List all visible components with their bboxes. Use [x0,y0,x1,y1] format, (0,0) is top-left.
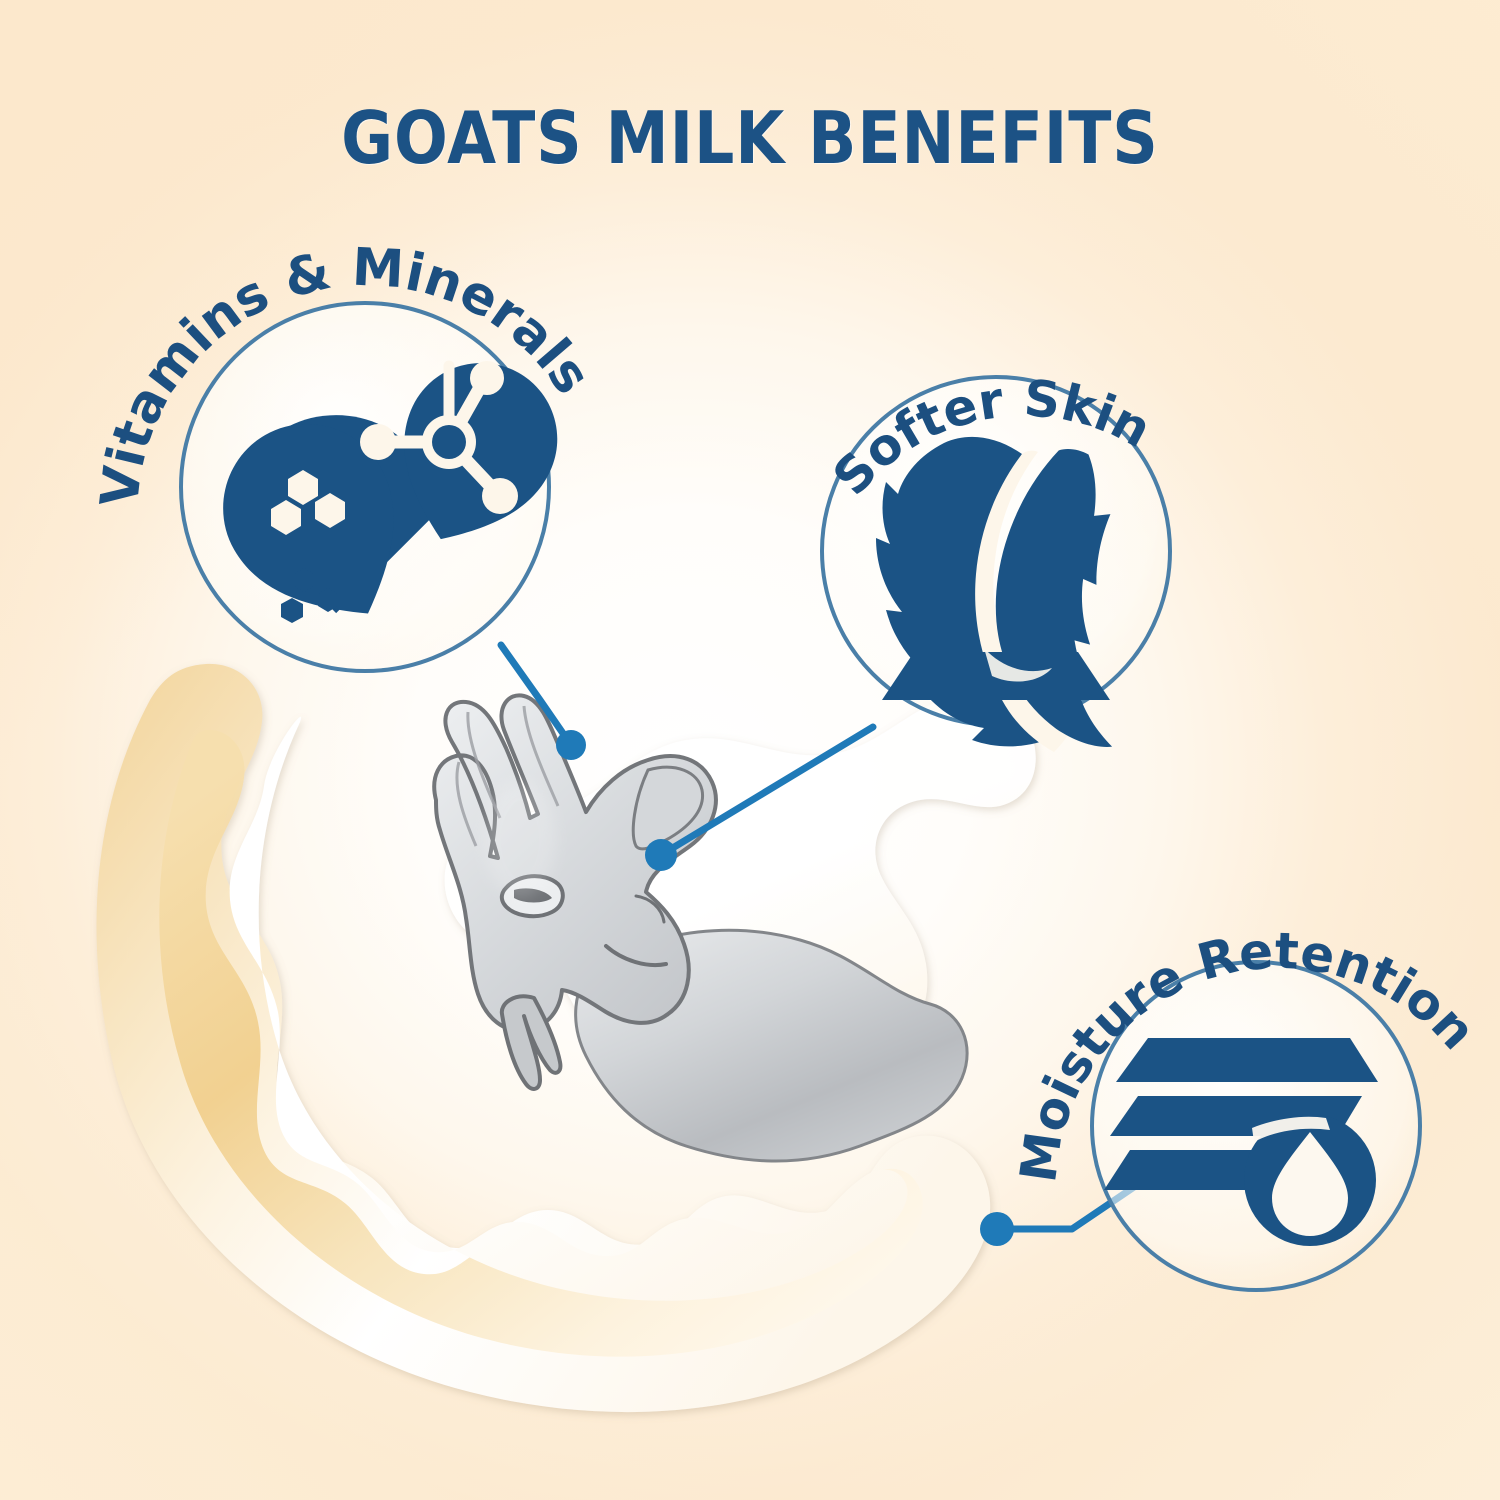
connector-dot-moisture [980,1212,1014,1246]
connector-dot-vitamins [556,730,586,760]
page-title: GOATS MILK BENEFITS [90,96,1410,180]
artwork-layer: Vitamins & Minerals Softer Skin Moisture… [0,0,1500,1500]
connector-dot-softer-skin [645,839,677,871]
infographic-canvas: Vitamins & Minerals Softer Skin Moisture… [0,0,1500,1500]
